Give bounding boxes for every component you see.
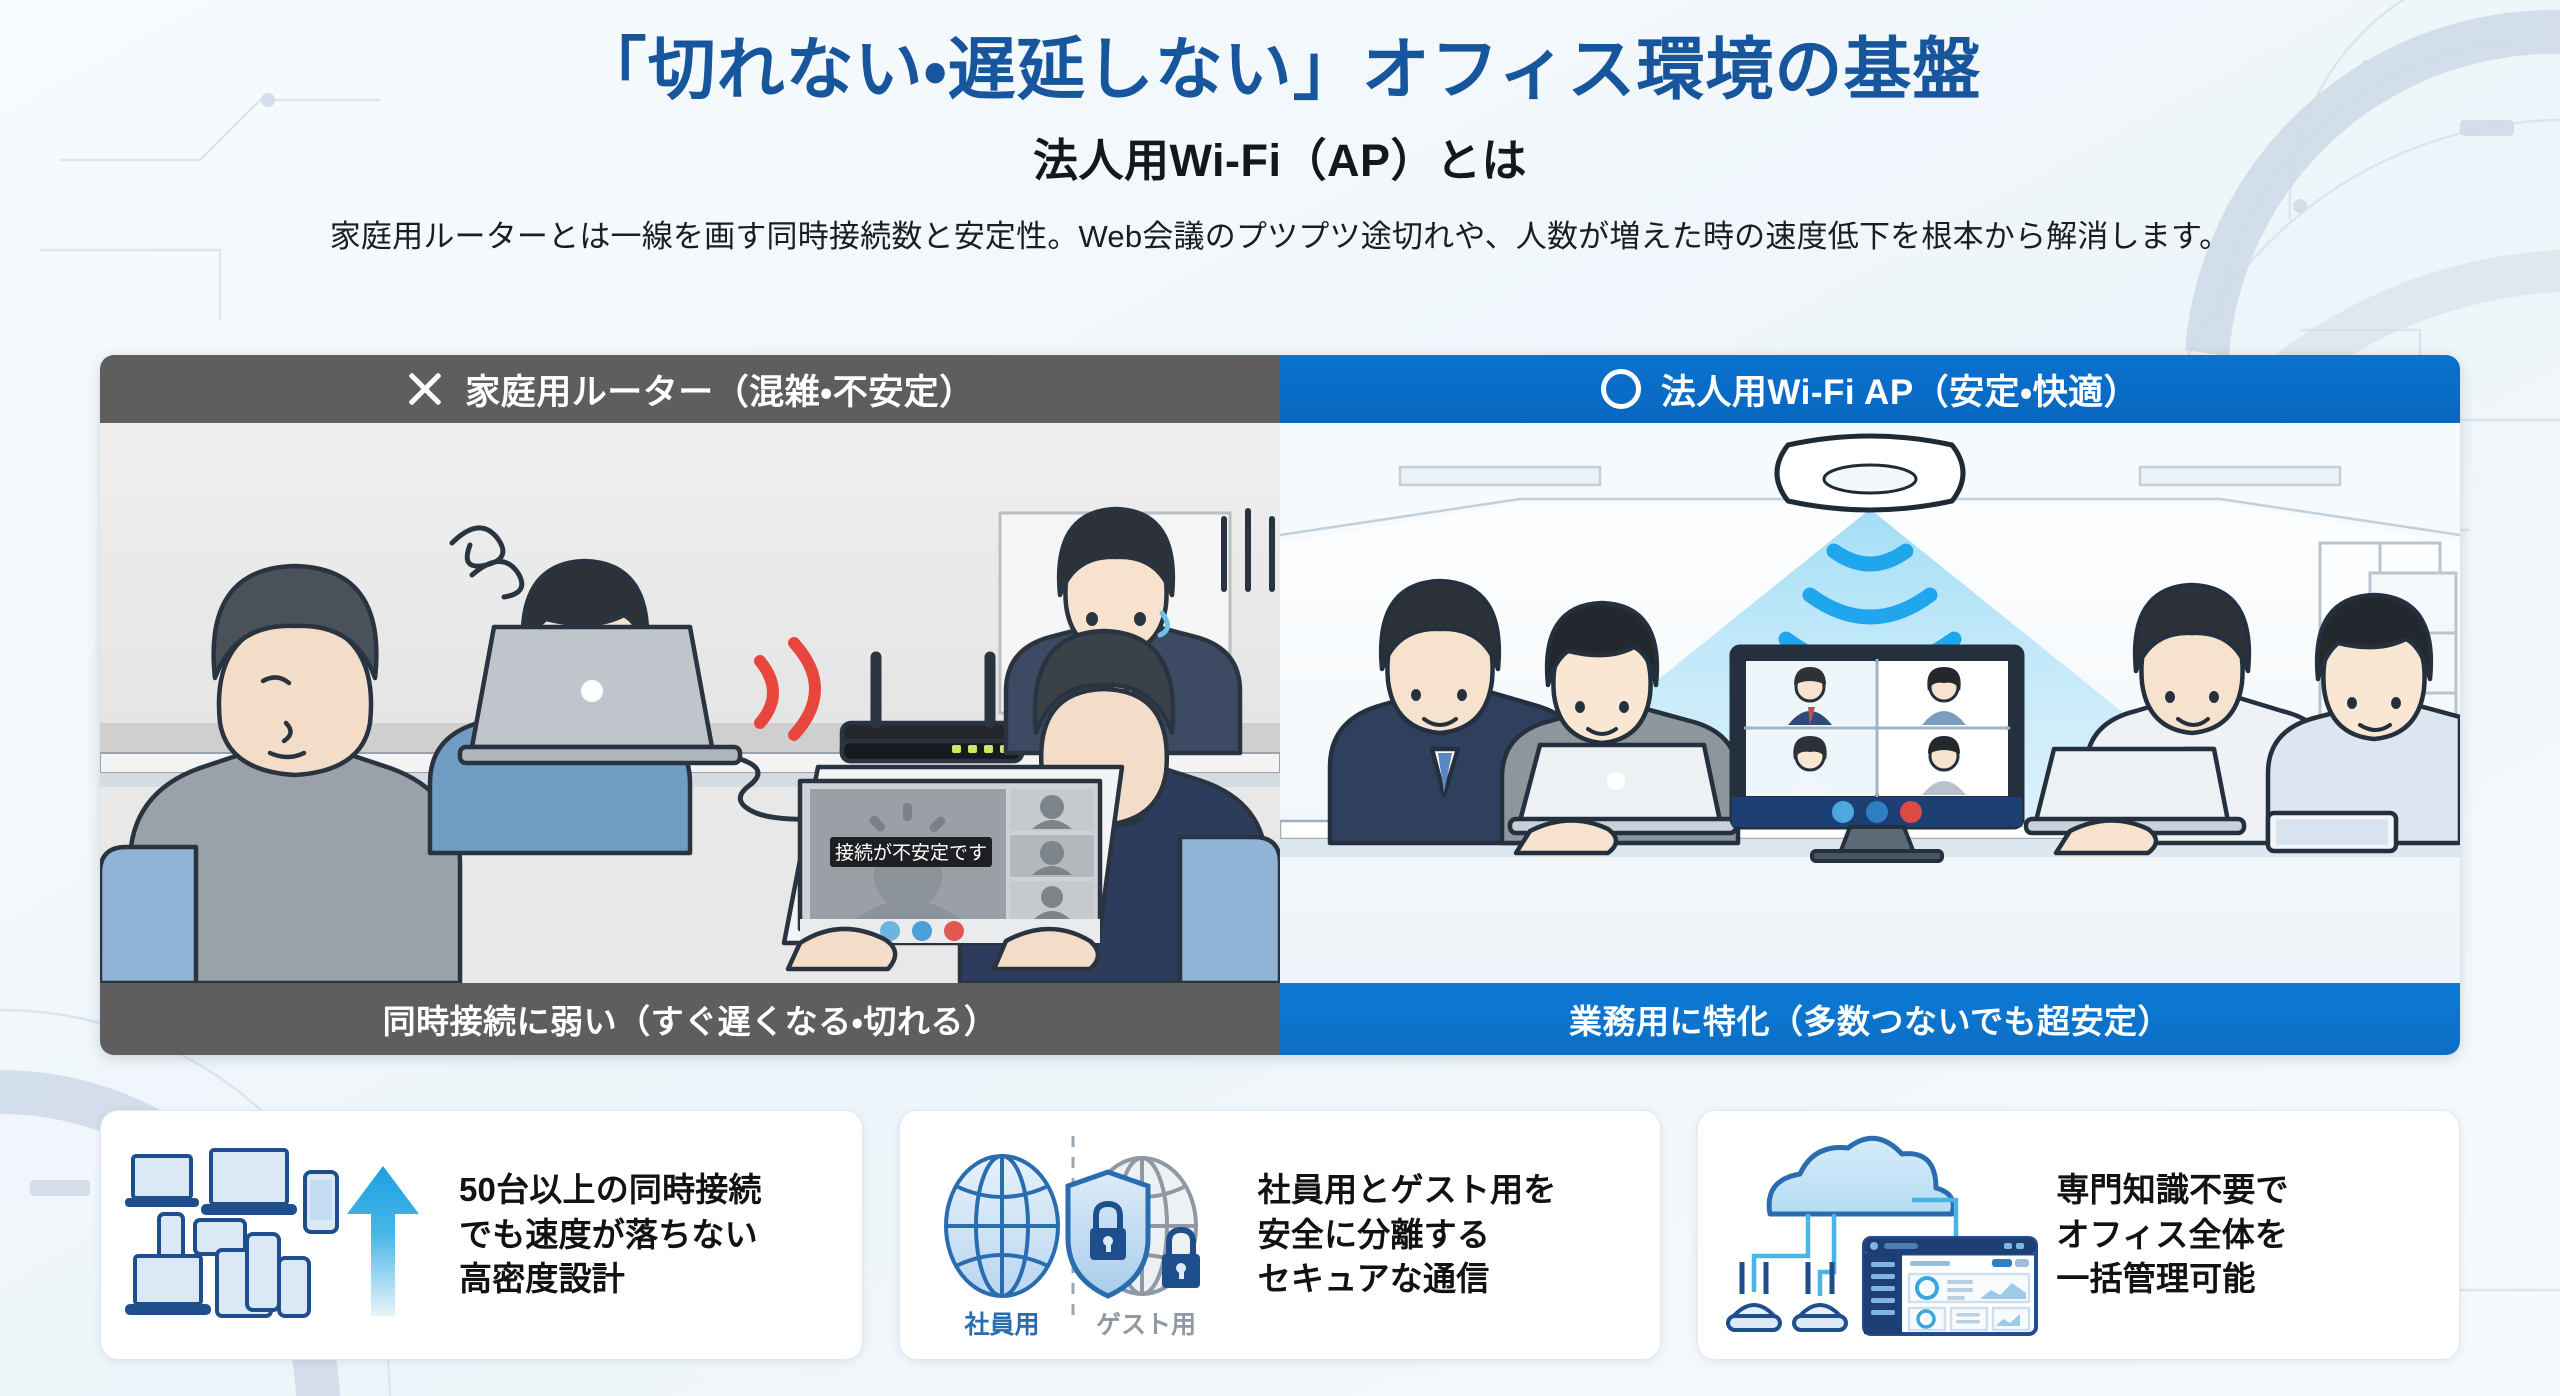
feature-card-management-line-1: 専門知識不要で [2056, 1168, 2288, 1213]
comparison-section: 家庭用ルーター（混雑・不安定） [100, 355, 2460, 1055]
feature-card-management[interactable]: 専門知識不要で オフィス全体を 一括管理可能 [1697, 1110, 2460, 1360]
cloud-dashboard-icon [1716, 1128, 2046, 1343]
feature-cards: 50台以上の同時接続 でも速度が落ちない 高密度設計 [100, 1110, 2460, 1360]
panel-business-ap-illustration [1280, 423, 2460, 983]
panel-home-router: 家庭用ルーター（混雑・不安定） [100, 355, 1280, 1055]
feature-card-security-line-3: セキュアな通信 [1258, 1257, 1557, 1302]
panel-home-router-header-label: 家庭用ルーター（混雑・不安定） [465, 364, 974, 415]
devices-uptrend-icon [119, 1128, 449, 1343]
circle-icon [1601, 369, 1641, 409]
feature-card-capacity-line-2: でも速度が落ちない [459, 1213, 762, 1258]
panel-home-router-footer: 同時接続に弱い（すぐ遅くなる・切れる） [100, 983, 1280, 1055]
unstable-connection-toast: 接続が不安定です [835, 842, 987, 864]
feature-card-capacity[interactable]: 50台以上の同時接続 でも速度が落ちない 高密度設計 [100, 1110, 863, 1360]
panel-business-ap-header-label: 法人用Wi-Fi AP（安定・快適） [1661, 364, 2139, 415]
globe-label-guest: ゲスト用 [1096, 1311, 1196, 1339]
feature-card-capacity-line-3: 高密度設計 [459, 1257, 762, 1302]
panel-business-ap-footer: 業務用に特化（多数つないでも超安定） [1280, 983, 2460, 1055]
panel-business-ap-header: 法人用Wi-Fi AP（安定・快適） [1280, 355, 2460, 423]
feature-card-security-line-2: 安全に分離する [1258, 1213, 1557, 1258]
infographic-page: 「切れない・遅延しない」オフィス環境の基盤 法人用Wi-Fi（AP）とは 家庭用… [0, 0, 2560, 1396]
panel-business-ap: 法人用Wi-Fi AP（安定・快適） [1280, 355, 2460, 1055]
globe-shield-lock-icon: 社員用 ゲスト用 [918, 1128, 1248, 1343]
panel-home-router-footer-label: 同時接続に弱い（すぐ遅くなる・切れる） [383, 995, 998, 1043]
page-title: 「切れない・遅延しない」オフィス環境の基盤 [0, 30, 2560, 110]
feature-card-management-line-2: オフィス全体を [2056, 1213, 2288, 1258]
feature-card-capacity-line-1: 50台以上の同時接続 [459, 1168, 762, 1213]
cross-icon [405, 369, 445, 409]
panel-home-router-illustration: 接続が不安定です [100, 423, 1280, 983]
page-lead-text: 家庭用ルーターとは一線を画す同時接続数と安定性。Web会議のプツプツ途切れや、人… [0, 211, 2560, 256]
feature-card-security-line-1: 社員用とゲスト用を [1258, 1168, 1557, 1213]
page-header: 「切れない・遅延しない」オフィス環境の基盤 法人用Wi-Fi（AP）とは 家庭用… [0, 0, 2560, 256]
feature-card-security-text: 社員用とゲスト用を 安全に分離する セキュアな通信 [1258, 1168, 1557, 1302]
feature-card-capacity-text: 50台以上の同時接続 でも速度が落ちない 高密度設計 [459, 1168, 762, 1302]
feature-card-management-text: 専門知識不要で オフィス全体を 一括管理可能 [2056, 1168, 2288, 1302]
page-subtitle: 法人用Wi-Fi（AP）とは [0, 124, 2560, 189]
panel-home-router-header: 家庭用ルーター（混雑・不安定） [100, 355, 1280, 423]
globe-label-employee: 社員用 [963, 1311, 1039, 1339]
panel-business-ap-footer-label: 業務用に特化（多数つないでも超安定） [1569, 995, 2171, 1043]
feature-card-security[interactable]: 社員用 ゲスト用 社員用とゲスト用を 安全に分離する セキュアな通信 [899, 1110, 1662, 1360]
feature-card-management-line-3: 一括管理可能 [2056, 1257, 2288, 1302]
